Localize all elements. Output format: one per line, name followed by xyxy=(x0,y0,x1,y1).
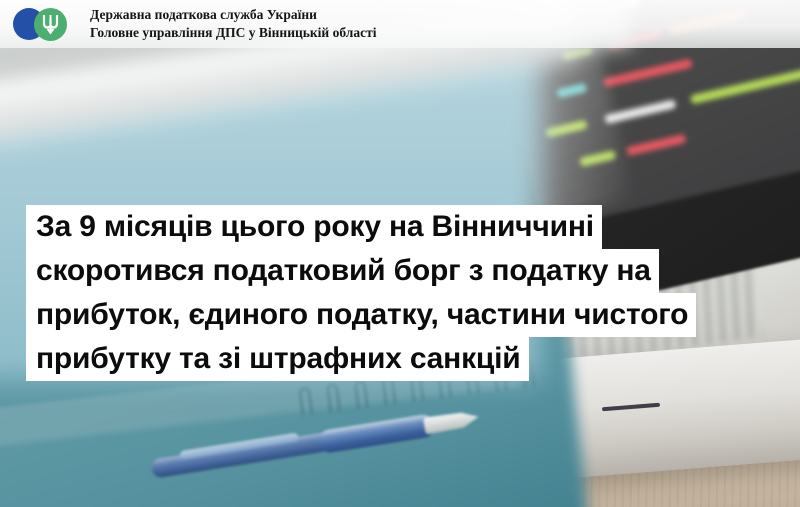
code-line-segment xyxy=(603,59,693,88)
spiral-ring xyxy=(299,387,313,416)
headline-line: скоротився податковий борг з податку на xyxy=(26,249,659,293)
agency-name-line-1: Державна податкова служба України xyxy=(90,6,376,24)
spiral-ring xyxy=(354,380,368,409)
agency-name-line-2: Головне управління ДПС у Вінницькій обла… xyxy=(90,24,376,42)
screenshot-canvas: Державна податкова служба України Головн… xyxy=(0,0,800,507)
headline-line: За 9 місяців цього року на Вінниччині xyxy=(26,205,602,249)
headline-line: прибуток, єдиного податку, частини чисто… xyxy=(26,293,696,337)
headline-text-block: За 9 місяців цього року на Вінниччиніско… xyxy=(26,205,774,381)
agency-logo xyxy=(12,7,80,41)
code-line-segment xyxy=(626,134,686,156)
pen-tip xyxy=(423,409,480,434)
spiral-ring xyxy=(326,383,340,412)
agency-name-block: Державна податкова служба України Головн… xyxy=(90,6,376,42)
ukraine-trident-icon xyxy=(41,13,60,36)
headline-line: прибутку та зі штрафних санкцій xyxy=(26,337,529,381)
agency-header-bar: Державна податкова служба України Головн… xyxy=(0,0,800,48)
green-circle-icon xyxy=(34,8,67,41)
